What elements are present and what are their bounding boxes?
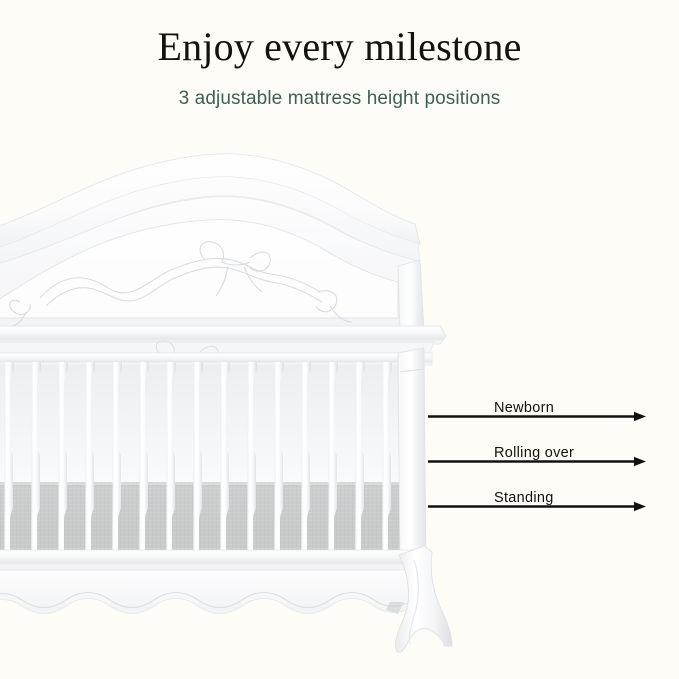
annotation-rolling-over: Rolling over — [428, 433, 650, 467]
crib-scalloped-apron — [0, 570, 420, 614]
arrow-right-icon — [428, 411, 650, 422]
crib-cornice-bead — [0, 342, 434, 353]
crib-top-cornice — [0, 326, 446, 344]
crib-corner-post — [398, 348, 426, 572]
crib-graphic — [0, 140, 470, 660]
arrow-right-icon — [428, 501, 650, 512]
annotation-newborn: Newborn — [428, 388, 650, 422]
headboard-right-post — [398, 260, 424, 330]
arrow-right-icon — [428, 456, 650, 467]
page-title: Enjoy every milestone — [0, 24, 679, 70]
crib-illustration — [0, 140, 470, 660]
crib-bottom-rail — [0, 550, 422, 568]
page-subtitle: 3 adjustable mattress height positions — [0, 88, 679, 110]
promo-image-canvas: Enjoy every milestone 3 adjustable mattr… — [0, 0, 679, 679]
annotation-standing: Standing — [428, 478, 650, 512]
